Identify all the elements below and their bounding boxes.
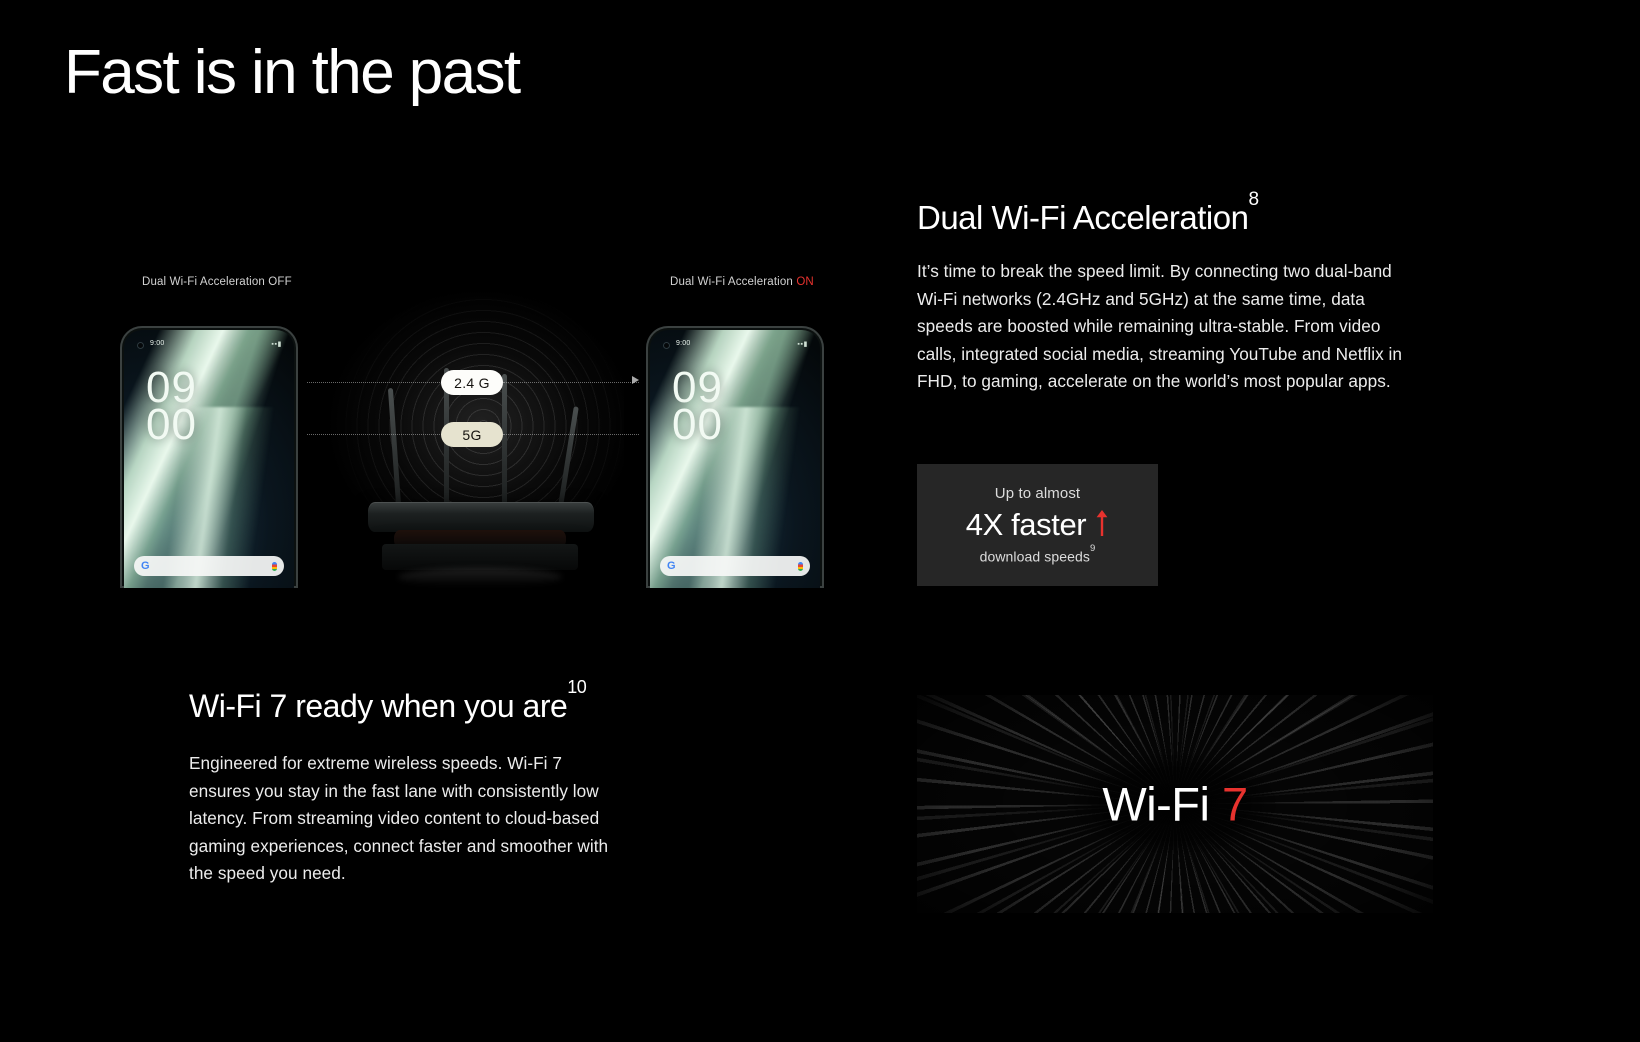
status-bar-indicators-right: ▪▪▮ bbox=[797, 340, 808, 348]
stat-card-download-speed: Up to almost 4X faster download speeds9 bbox=[917, 464, 1158, 586]
dual-wifi-heading: Dual Wi-Fi Acceleration8 bbox=[917, 200, 1417, 236]
phone-label-off: Dual Wi-Fi Acceleration OFF bbox=[142, 276, 292, 288]
phone-screen-off: 9:00 ▪▪▮ 0900 G bbox=[124, 330, 294, 588]
phone-screen-on: 9:00 ▪▪▮ 0900 G bbox=[650, 330, 820, 588]
status-bar-time-right: 9:00 bbox=[676, 340, 690, 347]
dual-wifi-body: It’s time to break the speed limit. By c… bbox=[917, 258, 1409, 396]
dual-wifi-section: Dual Wi-Fi Acceleration8 It’s time to br… bbox=[917, 200, 1417, 396]
router-illustration bbox=[354, 376, 614, 588]
phone-label-on-state: ON bbox=[796, 276, 814, 288]
connector-line bbox=[503, 434, 639, 435]
google-search-bar-right[interactable]: G bbox=[660, 556, 810, 576]
router-antenna bbox=[502, 374, 507, 506]
front-camera-icon bbox=[663, 342, 670, 349]
connector-arrow-icon bbox=[632, 376, 639, 384]
stat-card-value: 4X faster bbox=[966, 507, 1086, 543]
lockscreen-clock-right: 0900 bbox=[672, 370, 723, 444]
footnote-marker-9: 9 bbox=[1090, 543, 1095, 554]
microphone-icon[interactable] bbox=[798, 562, 803, 571]
stat-card-top-label: Up to almost bbox=[995, 485, 1080, 502]
dual-wifi-illustration: Dual Wi-Fi Acceleration OFF Dual Wi-Fi A… bbox=[96, 258, 866, 598]
phone-label-on: Dual Wi-Fi Acceleration ON bbox=[670, 276, 814, 288]
router-antenna bbox=[388, 388, 401, 506]
phone-label-on-prefix: Dual Wi-Fi Acceleration bbox=[670, 276, 796, 288]
page-title: Fast is in the past bbox=[64, 42, 520, 104]
status-bar-indicators-left: ▪▪▮ bbox=[271, 340, 282, 348]
footnote-marker-10: 10 bbox=[567, 677, 586, 697]
footnote-marker-8: 8 bbox=[1248, 189, 1258, 210]
arrow-up-icon bbox=[1095, 508, 1109, 543]
wifi7-visual-panel: Wi-Fi 7 bbox=[917, 695, 1433, 913]
google-logo-icon: G bbox=[141, 561, 150, 572]
product-feature-page: Fast is in the past Dual Wi-Fi Accelerat… bbox=[0, 0, 1640, 1042]
google-search-bar-left[interactable]: G bbox=[134, 556, 284, 576]
phone-mockup-on: 9:00 ▪▪▮ 0900 G bbox=[646, 326, 824, 588]
band-badge-5g: 5G bbox=[441, 422, 503, 447]
connector-line bbox=[307, 382, 442, 383]
lockscreen-clock-left: 0900 bbox=[146, 370, 197, 444]
phone-mockup-off: 9:00 ▪▪▮ 0900 G bbox=[120, 326, 298, 588]
router-antenna bbox=[558, 406, 579, 506]
stat-card-value-row: 4X faster bbox=[966, 507, 1109, 543]
microphone-icon[interactable] bbox=[272, 562, 277, 571]
google-logo-icon: G bbox=[667, 561, 676, 572]
status-bar-time-left: 9:00 bbox=[150, 340, 164, 347]
connector-line bbox=[503, 382, 639, 383]
wifi7-section: Wi-Fi 7 ready when you are10 Engineered … bbox=[189, 689, 749, 888]
wifi7-panel-label: Wi-Fi 7 bbox=[917, 777, 1433, 832]
band-badge-24g: 2.4 G bbox=[441, 370, 503, 395]
stat-card-bottom-label: download speeds9 bbox=[980, 548, 1096, 565]
router-reflection bbox=[398, 568, 562, 586]
front-camera-icon bbox=[137, 342, 144, 349]
router-body bbox=[368, 502, 594, 532]
connector-line bbox=[307, 434, 442, 435]
wifi7-panel-number: 7 bbox=[1222, 778, 1248, 831]
wifi7-body: Engineered for extreme wireless speeds. … bbox=[189, 750, 619, 888]
wifi7-heading: Wi-Fi 7 ready when you are10 bbox=[189, 689, 749, 724]
router-plinth bbox=[382, 544, 578, 570]
